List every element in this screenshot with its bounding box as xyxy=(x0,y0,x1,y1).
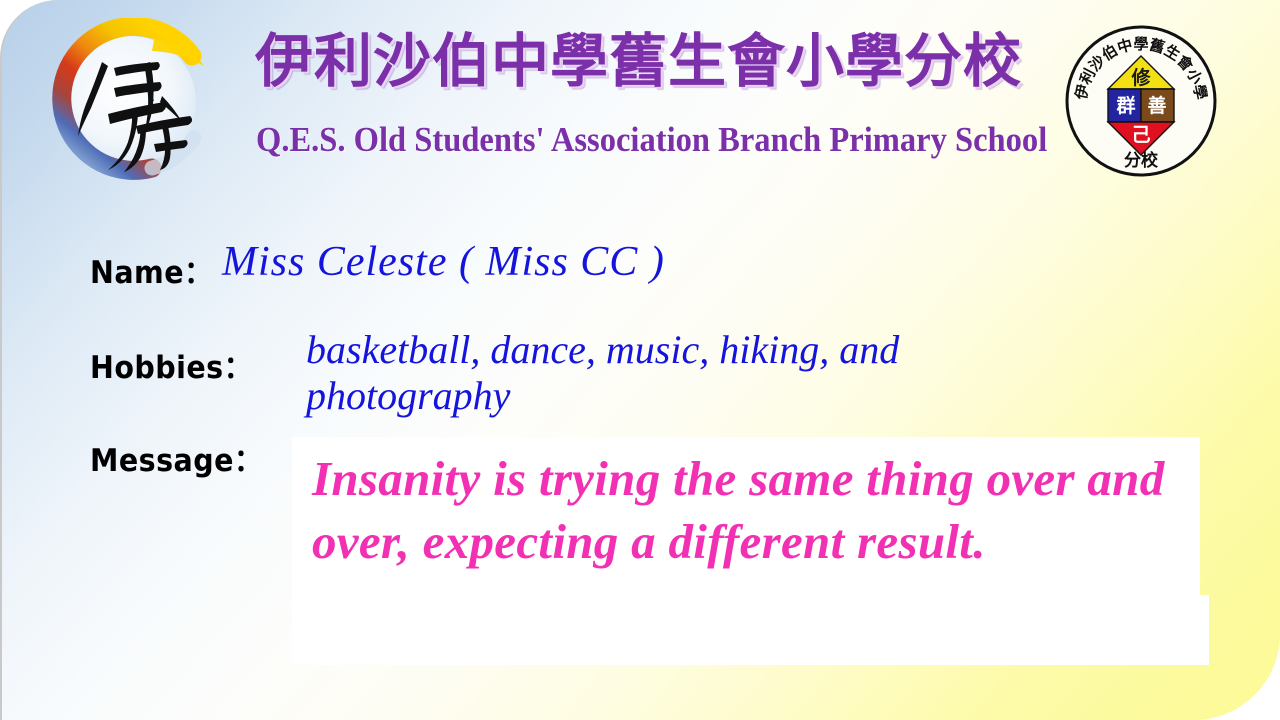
svg-text:修: 修 xyxy=(1130,66,1151,89)
hobbies-label: Hobbies： xyxy=(90,342,253,387)
name-label: Name： xyxy=(90,247,213,292)
school-crest: 伊利沙伯中學舊生會小學 修 群 善 己 分校 xyxy=(1064,24,1218,178)
message-label: Message： xyxy=(90,435,263,480)
school-title-english: Q.E.S. Old Students' Association Branch … xyxy=(256,120,972,160)
name-value: Miss Celeste ( Miss CC ) xyxy=(222,238,665,286)
message-value: Insanity is trying the same thing over a… xyxy=(312,448,1196,573)
hobbies-value: basketball, dance, music, hiking, and ph… xyxy=(306,327,1086,419)
svg-text:群: 群 xyxy=(1115,94,1135,117)
svg-text:己: 己 xyxy=(1131,124,1150,146)
svg-text:分校: 分校 xyxy=(1124,150,1159,171)
school-title-chinese: 伊利沙伯中學舊生會小學分校 xyxy=(255,31,1025,92)
teacher-profile-slide: 伊利沙伯中學舊生會小學分校 Q.E.S. Old Students' Assoc… xyxy=(0,0,1280,720)
school-brush-logo xyxy=(34,18,224,188)
svg-text:善: 善 xyxy=(1147,94,1166,117)
